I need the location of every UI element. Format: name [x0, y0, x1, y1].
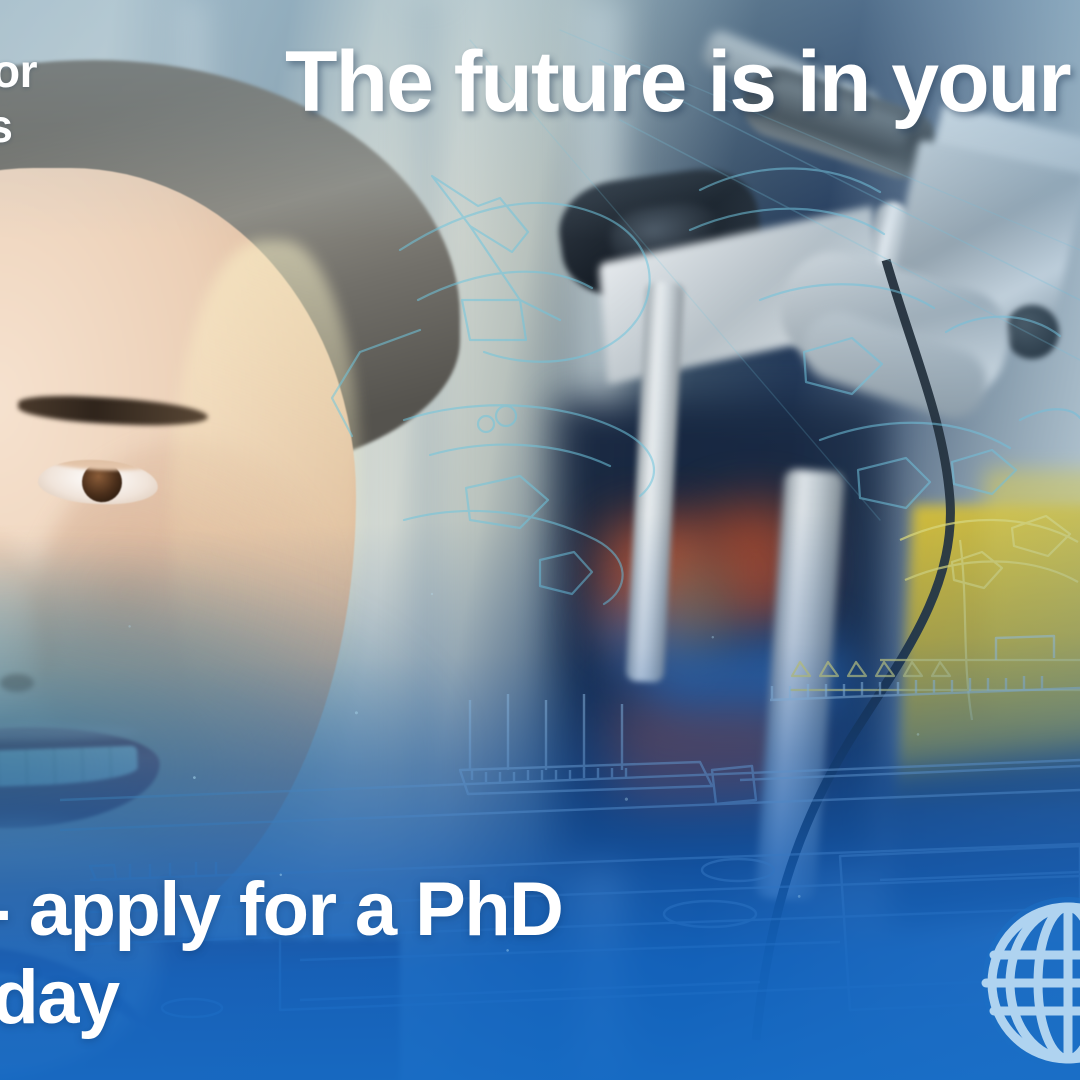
teeth [0, 746, 138, 791]
cta-line-1: eap - apply for a PhD [0, 867, 562, 952]
globe-icon [978, 893, 1080, 1073]
nostril [0, 674, 34, 692]
promo-banner: ntre for botics The future is in your ea… [0, 0, 1080, 1080]
organisation-logo-text: ntre for botics [0, 44, 37, 154]
cta-line-2: ip today [0, 955, 119, 1040]
headline: The future is in your [285, 36, 1070, 128]
call-to-action-text: eap - apply for a PhDip today [0, 866, 562, 1042]
rim-light [170, 240, 360, 800]
